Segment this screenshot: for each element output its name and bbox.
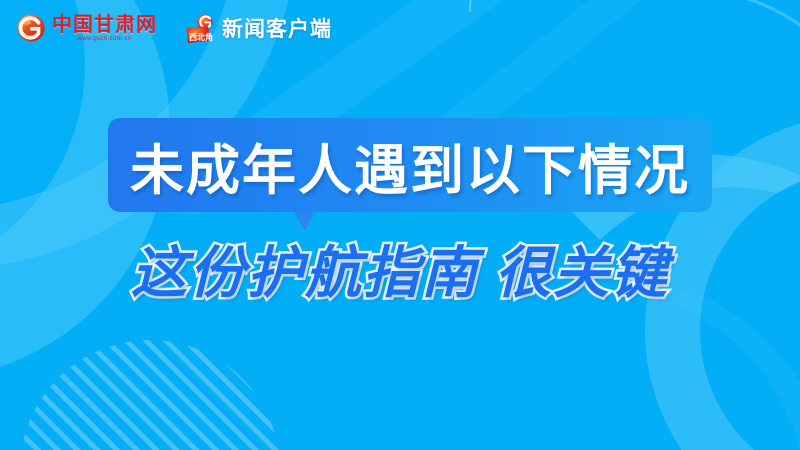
decor-bottom-left-stripes xyxy=(20,340,280,450)
app-logo[interactable]: 西北角 新闻客户端 xyxy=(185,13,332,43)
poster-canvas: 中国甘肃网 www.gscn.com.cn 西北角 新闻客户端 未成年人遇到以下… xyxy=(0,0,800,450)
headline-line-2-part-1: 这份护航指南 xyxy=(131,241,479,306)
headline-bubble: 未成年人遇到以下情况 xyxy=(108,118,712,212)
site-logo-text: 中国甘肃网 www.gscn.com.cn xyxy=(52,14,157,42)
decor-bottom-right-arc xyxy=(660,290,800,450)
app-seal-icon: 西北角 xyxy=(185,13,217,43)
gscn-g-mark-icon xyxy=(16,13,46,43)
site-logo-name: 中国甘肃网 xyxy=(52,14,157,34)
site-logo-url: www.gscn.com.cn xyxy=(77,36,131,42)
headline-line-1: 未成年人遇到以下情况 xyxy=(108,118,712,212)
site-logo[interactable]: 中国甘肃网 www.gscn.com.cn xyxy=(16,13,157,43)
logo-bar: 中国甘肃网 www.gscn.com.cn 西北角 新闻客户端 xyxy=(0,0,800,56)
headline-line-2: 这份护航指南很关键 xyxy=(0,228,800,309)
headline-line-2-part-2: 很关键 xyxy=(495,241,669,306)
app-logo-name: 新闻客户端 xyxy=(222,13,332,43)
app-seal-text: 西北角 xyxy=(185,33,217,43)
